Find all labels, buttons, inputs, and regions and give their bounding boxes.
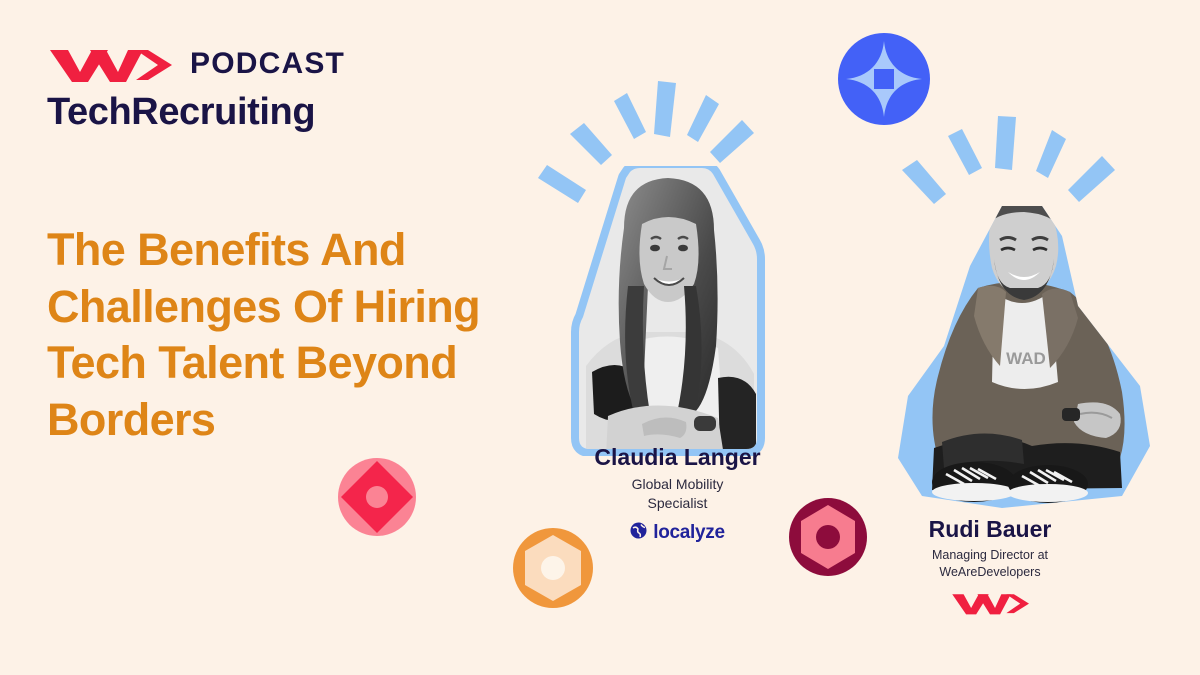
- guest-role-line1: Managing Director at: [932, 548, 1048, 562]
- guest-role-line2: WeAreDevelopers: [939, 565, 1040, 579]
- claudia-photo-group: [528, 70, 808, 450]
- claudia-langer-photo: [568, 166, 768, 456]
- guest-role-line2: Specialist: [648, 495, 708, 511]
- guest-name: Claudia Langer: [565, 444, 790, 470]
- show-name: TechRecruiting: [47, 92, 315, 134]
- podcast-label: PODCAST: [190, 49, 345, 79]
- weare-developers-logo-icon: [48, 44, 172, 84]
- weare-developers-logo: [885, 590, 1095, 621]
- podcast-cover-art: PODCAST TechRecruiting The Benefits And …: [0, 0, 1200, 675]
- localyze-logo: localyze: [565, 522, 790, 544]
- localyze-wordmark: localyze: [653, 523, 725, 542]
- maroon-hex-badge: [789, 498, 867, 581]
- rudi-photo-group: WAD: [876, 108, 1166, 518]
- guest-role: Global Mobility Specialist: [565, 475, 790, 512]
- guest-role: Managing Director at WeAreDevelopers: [885, 547, 1095, 580]
- guest-card-rudi: Rudi Bauer Managing Director at WeAreDev…: [885, 516, 1095, 621]
- brand-row: PODCAST: [48, 44, 345, 84]
- red-diamond-badge: [338, 458, 416, 541]
- guest-name: Rudi Bauer: [885, 516, 1095, 542]
- episode-title: The Benefits And Challenges Of Hiring Te…: [47, 222, 577, 449]
- guest-card-claudia: Claudia Langer Global Mobility Specialis…: [565, 444, 790, 544]
- svg-text:WAD: WAD: [1006, 349, 1046, 368]
- guest-role-line1: Global Mobility: [632, 476, 724, 492]
- rudi-bauer-photo: WAD: [882, 196, 1162, 516]
- globe-icon: [630, 522, 647, 544]
- weare-developers-logo-icon: [951, 590, 1029, 621]
